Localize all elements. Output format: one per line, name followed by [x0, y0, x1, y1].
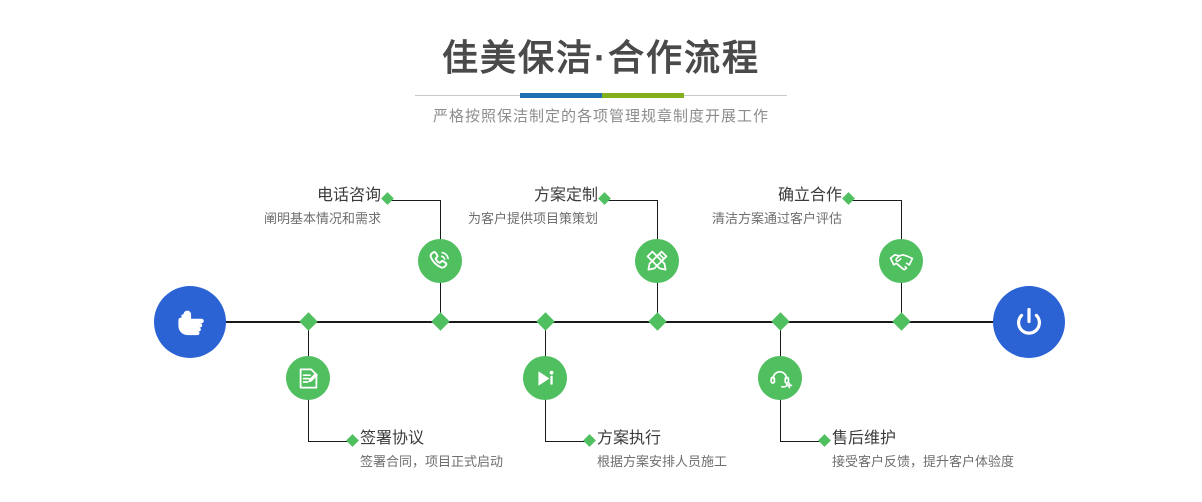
step-label-step-2: 签署协议 签署合同，项目正式启动 — [360, 428, 503, 472]
step-label-step-6: 售后维护 接受客户反馈，提升客户体验度 — [832, 428, 1014, 472]
step-node-step-3[interactable] — [635, 239, 679, 283]
label-marker-step-3 — [598, 192, 611, 205]
step-title-step-5: 确立合作 — [616, 185, 842, 207]
handshake-icon — [888, 248, 915, 275]
step-desc-step-2: 签署合同，项目正式启动 — [360, 452, 503, 472]
title-divider — [401, 93, 801, 98]
page-subtitle: 严格按照保洁制定的各项管理规章制度开展工作 — [0, 105, 1202, 126]
step-desc-step-4: 根据方案安排人员施工 — [597, 452, 727, 472]
step-desc-step-3: 为客户提供项目策策划 — [372, 209, 598, 229]
label-marker-step-6 — [818, 434, 831, 447]
play-execute-icon — [533, 366, 558, 391]
document-edit-icon — [296, 366, 321, 391]
connector-horizontal-step-5 — [850, 200, 902, 201]
power-icon — [1009, 302, 1049, 342]
step-label-step-3: 方案定制 为客户提供项目策策划 — [372, 185, 598, 229]
step-label-step-1: 电话咨询 阐明基本情况和需求 — [155, 185, 381, 229]
pencil-ruler-icon — [644, 248, 670, 274]
timeline-start-badge — [154, 286, 226, 358]
process-flow-infographic: 佳美保洁·合作流程 严格按照保洁制定的各项管理规章制度开展工作 — [0, 0, 1202, 502]
step-title-step-6: 售后维护 — [832, 428, 1014, 450]
timeline-marker-step-2 — [299, 312, 317, 330]
connector-horizontal-step-6 — [780, 441, 824, 442]
step-node-step-4[interactable] — [523, 356, 567, 400]
step-desc-step-5: 清洁方案通过客户评估 — [616, 209, 842, 229]
label-marker-step-5 — [842, 192, 855, 205]
timeline-marker-step-3 — [648, 312, 666, 330]
step-label-step-5: 确立合作 清洁方案通过客户评估 — [616, 185, 842, 229]
step-title-step-4: 方案执行 — [597, 428, 727, 450]
timeline-end-badge — [993, 286, 1065, 358]
step-node-step-6[interactable] — [758, 356, 802, 400]
timeline-marker-step-4 — [536, 312, 554, 330]
step-desc-step-6: 接受客户反馈，提升客户体验度 — [832, 452, 1014, 472]
label-marker-step-4 — [583, 434, 596, 447]
connector-horizontal-step-4 — [545, 441, 589, 442]
support-agent-add-icon — [767, 365, 793, 391]
step-desc-step-1: 阐明基本情况和需求 — [155, 209, 381, 229]
timeline-marker-step-6 — [771, 312, 789, 330]
step-label-step-4: 方案执行 根据方案安排人员施工 — [597, 428, 727, 472]
step-node-step-1[interactable] — [418, 239, 462, 283]
step-title-step-1: 电话咨询 — [155, 185, 381, 207]
connector-horizontal-step-3 — [606, 200, 658, 201]
connector-horizontal-step-1 — [389, 200, 441, 201]
timeline-marker-step-5 — [892, 312, 910, 330]
step-title-step-2: 签署协议 — [360, 428, 503, 450]
connector-horizontal-step-2 — [308, 441, 352, 442]
label-marker-step-2 — [346, 434, 359, 447]
step-node-step-5[interactable] — [879, 239, 923, 283]
step-node-step-2[interactable] — [286, 356, 330, 400]
phone-call-icon — [427, 248, 453, 274]
timeline-marker-step-1 — [431, 312, 449, 330]
page-title: 佳美保洁·合作流程 — [0, 36, 1202, 80]
divider-green-segment — [602, 93, 684, 98]
step-title-step-3: 方案定制 — [372, 185, 598, 207]
divider-blue-segment — [520, 93, 602, 98]
pointing-hand-icon — [170, 302, 210, 342]
